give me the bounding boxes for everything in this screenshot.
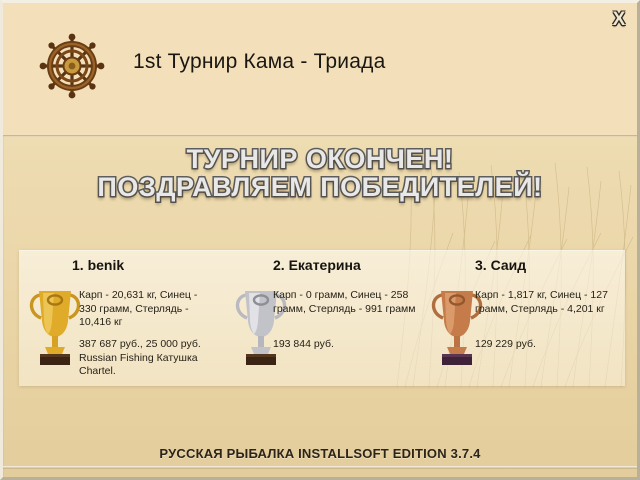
winner-prize-text: 193 844 руб. [273, 338, 419, 352]
page-title: 1st Турнир Кама - Триада [133, 50, 385, 74]
banner-line-1: ТУРНИР ОКОНЧЕН! [3, 145, 637, 173]
winner-prize-text: 129 229 руб. [475, 338, 617, 352]
winner-catch-text: Карп - 0 грамм, Синец - 258 грамм, Стерл… [273, 289, 419, 316]
winner-card-3: 3. Саид Карп - 1,817 кг, Синец - 127 гра… [425, 251, 625, 386]
gold-trophy-icon [27, 277, 83, 369]
winner-catch-text: Карп - 1,817 кг, Синец - 127 грамм, Стер… [475, 289, 617, 316]
tournament-results-window: X 1st Турнир Кама - Триада [0, 0, 640, 480]
winner-rank-label: 1. benik [72, 257, 124, 273]
footer-branding: РУССКАЯ РЫБАЛКА INSTALLSOFT EDITION 3.7.… [3, 446, 637, 461]
winner-prize-text: 387 687 руб., 25 000 руб. Russian Fishin… [79, 338, 219, 379]
close-icon[interactable]: X [607, 7, 631, 31]
winners-panel: 1. benik Карп - 20,631 кг, Синец - 330 г… [19, 250, 625, 386]
ship-wheel-icon [39, 33, 105, 99]
footer-divider [3, 466, 637, 469]
winner-catch-text: Карп - 20,631 кг, Синец - 330 грамм, Сте… [79, 289, 217, 330]
banner-line-2: ПОЗДРАВЛЯЕМ ПОБЕДИТЕЛЕЙ! [3, 173, 637, 201]
banner-message: ТУРНИР ОКОНЧЕН! ПОЗДРАВЛЯЕМ ПОБЕДИТЕЛЕЙ! [3, 145, 637, 201]
winner-card-2: 2. Екатерина Карп - 0 грамм, Синец - 258… [225, 251, 425, 386]
winner-rank-label: 2. Екатерина [273, 257, 361, 273]
winner-rank-label: 3. Саид [475, 257, 526, 273]
winner-card-1: 1. benik Карп - 20,631 кг, Синец - 330 г… [19, 251, 225, 386]
